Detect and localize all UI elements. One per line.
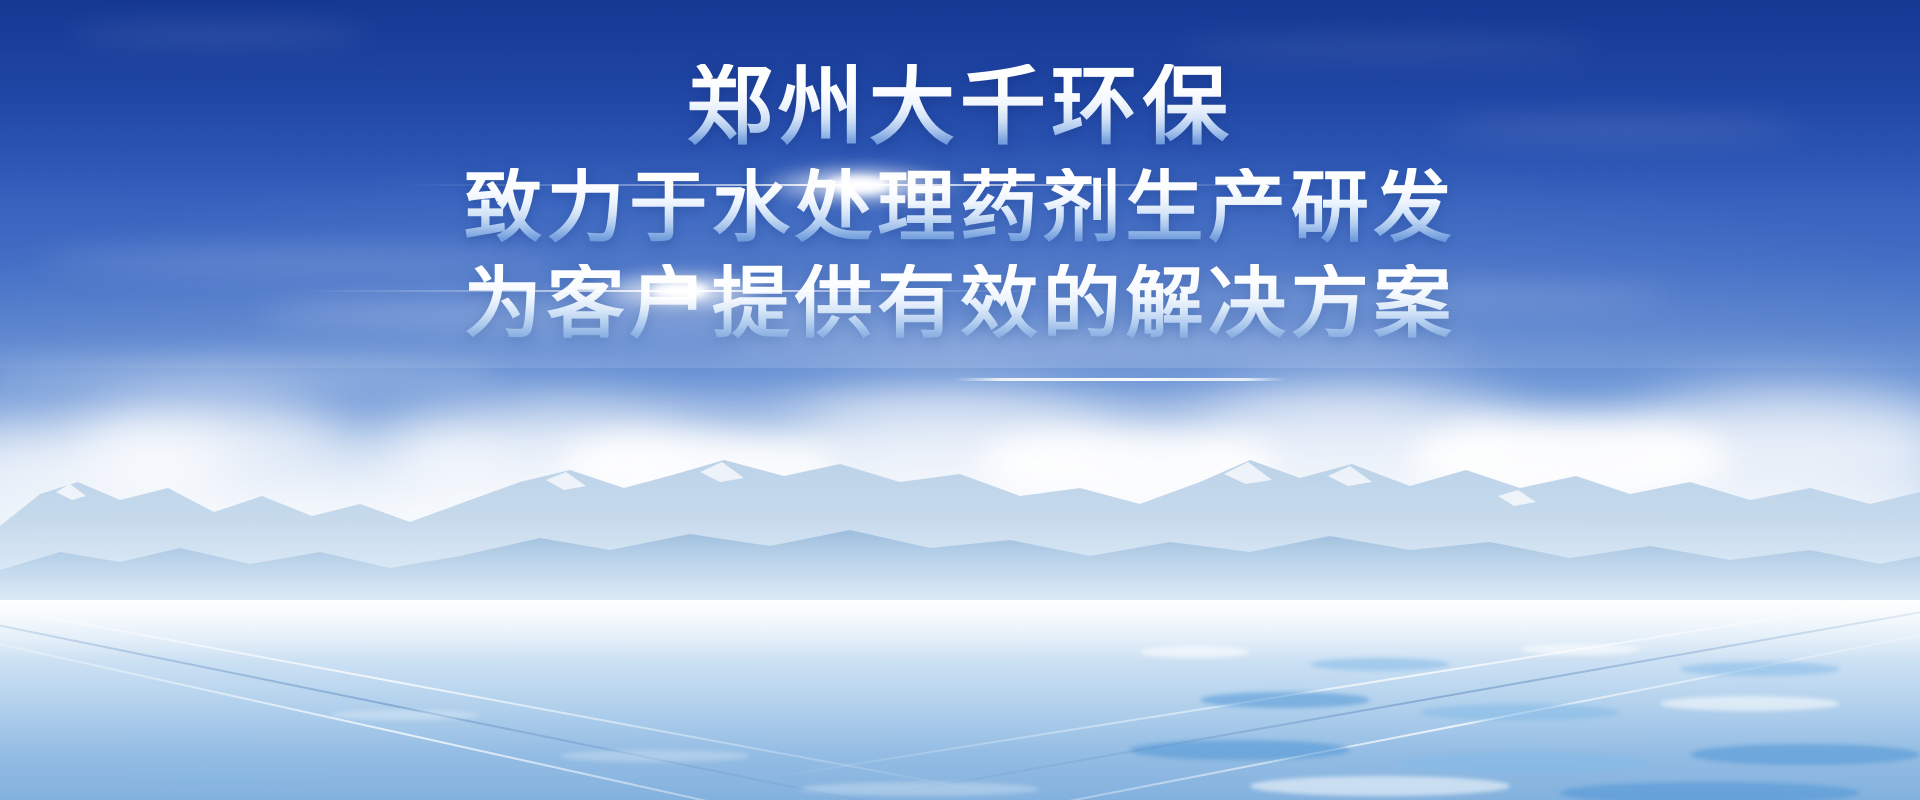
water-ripple <box>800 782 1040 796</box>
water-ripple <box>1250 776 1510 796</box>
water-surface <box>0 600 1920 800</box>
water-ripple <box>330 710 480 720</box>
water-ripple <box>1400 752 1650 774</box>
water-ripple <box>1660 696 1840 711</box>
water-ripple <box>1690 744 1920 765</box>
water-ripple <box>1680 662 1840 676</box>
water-ripple <box>120 770 340 784</box>
water-ripple <box>1310 658 1450 671</box>
hero-banner: 郑州大千环保 致力于水处理药剂生产研发 为客户提供有效的解决方案 <box>0 0 1920 800</box>
water-ripple <box>1140 646 1250 658</box>
water-ripple <box>1420 704 1620 721</box>
water-ripple <box>1130 740 1350 760</box>
water-ripple <box>560 750 750 762</box>
sky-grain-texture <box>0 0 1920 480</box>
water-ripple <box>1520 644 1640 655</box>
water-ripple <box>1560 782 1860 800</box>
water-ripple <box>1200 692 1370 708</box>
